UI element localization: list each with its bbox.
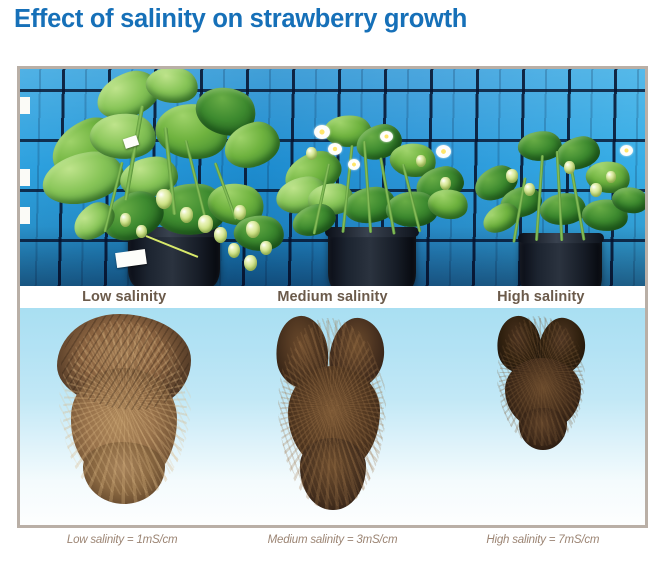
plant-medium-salinity	[270, 101, 470, 286]
strawberry-fruit	[228, 243, 240, 258]
root-systems-photo	[20, 308, 645, 525]
root-cell-medium	[228, 308, 436, 525]
strawberry-flower	[328, 143, 342, 155]
strawberry-fruit	[156, 189, 172, 209]
strawberry-fruit	[120, 213, 131, 227]
strawberry-fruit	[244, 255, 257, 271]
plant-high-salinity	[472, 125, 645, 286]
strawberry-fruit	[214, 227, 227, 243]
root-cell-low	[20, 308, 228, 525]
strawberry-flower	[380, 131, 393, 142]
strawberry-fruit	[524, 183, 535, 196]
strawberry-flower	[620, 145, 633, 156]
strawberry-flower	[436, 145, 451, 158]
root-cell-high	[437, 308, 645, 525]
strawberry-flower	[314, 125, 330, 139]
strawberry-plants-photo	[20, 69, 645, 286]
figure-container: Low salinity Medium salinity High salini…	[17, 66, 648, 528]
label-high-salinity: High salinity	[437, 286, 645, 308]
strawberry-fruit	[246, 221, 260, 238]
root-mass-medium-salinity	[272, 316, 392, 514]
strawberry-fruit	[416, 155, 426, 167]
plant-low-salinity	[28, 69, 296, 286]
strawberry-fruit	[564, 161, 575, 174]
strawberry-fruit	[180, 207, 193, 223]
root-systems-row	[20, 308, 645, 525]
caption-row: Low salinity = 1mS/cm Medium salinity = …	[17, 534, 648, 546]
edge-marker-tab	[20, 97, 30, 114]
strawberry-fruit	[234, 205, 246, 220]
strawberry-flower	[348, 159, 360, 170]
label-medium-salinity: Medium salinity	[228, 286, 436, 308]
strawberry-fruit	[506, 169, 518, 183]
salinity-label-band: Low salinity Medium salinity High salini…	[20, 286, 645, 308]
strawberry-fruit	[306, 147, 317, 160]
plant-pot-high	[520, 237, 602, 286]
edge-marker-tab	[20, 207, 30, 224]
caption-high-salinity: High salinity = 7mS/cm	[438, 534, 648, 546]
root-fiber	[61, 314, 189, 410]
label-low-salinity: Low salinity	[20, 286, 228, 308]
root-mass-high-salinity	[495, 316, 587, 448]
figure-inner: Low salinity Medium salinity High salini…	[20, 69, 645, 525]
edge-marker-tab	[20, 169, 30, 186]
plant-pot-medium	[328, 231, 416, 286]
root-mass-low-salinity	[49, 314, 199, 514]
caption-low-salinity: Low salinity = 1mS/cm	[17, 534, 227, 546]
strawberry-fruit	[590, 183, 602, 197]
strawberry-fruit	[606, 171, 616, 183]
page-title: Effect of salinity on strawberry growth	[14, 5, 467, 34]
caption-medium-salinity: Medium salinity = 3mS/cm	[227, 534, 437, 546]
strawberry-fruit	[198, 215, 213, 233]
strawberry-fruit	[440, 177, 451, 190]
